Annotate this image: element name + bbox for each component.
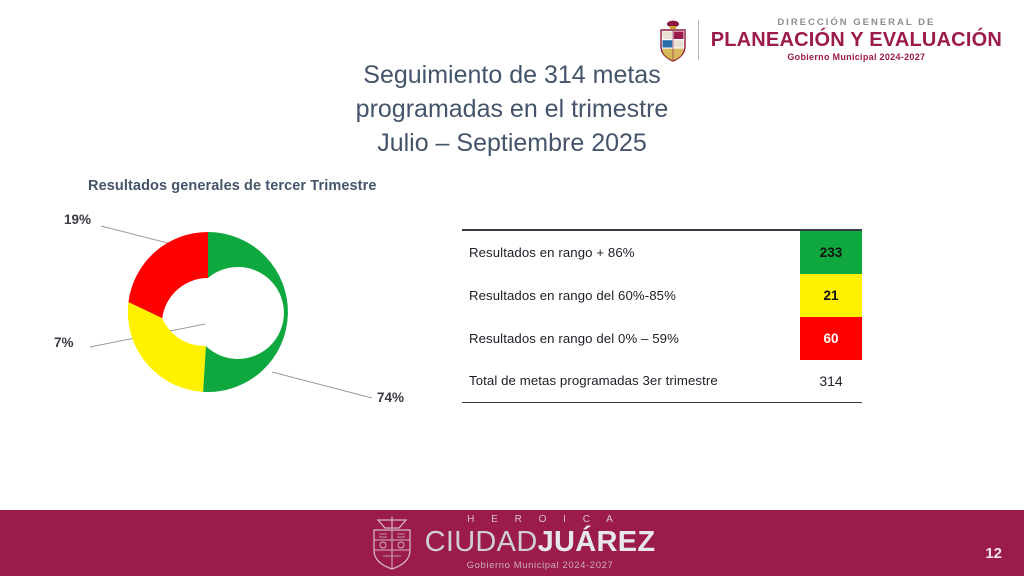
page-number: 12: [985, 545, 1002, 562]
title-line-3: Julio – Septiembre 2025: [0, 126, 1024, 160]
table-bottom-rule: [462, 402, 862, 404]
footer-city: CIUDADJUÁREZ: [425, 528, 656, 557]
table-row-value: 233: [800, 231, 862, 274]
footer-heroica: H E R O I C A: [460, 515, 620, 525]
table-row-label: Resultados en rango + 86%: [462, 231, 800, 274]
chart-heading: Resultados generales de tercer Trimestre: [88, 178, 377, 194]
footer-gobierno: Gobierno Municipal 2024-2027: [467, 561, 614, 571]
donut-slice-red: [128, 232, 208, 318]
table-row-label: Resultados en rango del 60%-85%: [462, 274, 800, 317]
page-title: Seguimiento de 314 metas programadas en …: [0, 58, 1024, 160]
table-row: Resultados en rango + 86% 233: [462, 231, 862, 274]
donut-slice-yellow: [128, 302, 206, 392]
title-line-1: Seguimiento de 314 metas: [0, 58, 1024, 92]
donut-slice-green: [203, 232, 288, 392]
table-total-label: Total de metas programadas 3er trimestre: [462, 360, 800, 402]
table-total-row: Total de metas programadas 3er trimestre…: [462, 360, 862, 402]
footer-logo-text: H E R O I C A CIUDADJUÁREZ Gobierno Muni…: [425, 515, 656, 571]
header-line-2: PLANEACIÓN Y EVALUACIÓN: [711, 30, 1002, 50]
footer-city-light: CIUDAD: [425, 526, 538, 558]
table-body: Resultados en rango + 86% 233 Resultados…: [462, 231, 862, 402]
coat-of-arms-icon: [656, 18, 690, 62]
header-logo-text: DIRECCIÓN GENERAL DE PLANEACIÓN Y EVALUA…: [711, 18, 1002, 63]
donut-label-green: 74%: [377, 390, 404, 405]
header-line-1: DIRECCIÓN GENERAL DE: [777, 18, 935, 28]
table-row-value: 21: [800, 274, 862, 317]
header-divider: [698, 20, 699, 60]
footer-logo: H E R O I C A CIUDADJUÁREZ Gobierno Muni…: [0, 510, 1024, 576]
footer-bar: H E R O I C A CIUDADJUÁREZ Gobierno Muni…: [0, 510, 1024, 576]
donut-label-yellow: 7%: [54, 335, 74, 350]
donut-label-red: 19%: [64, 212, 91, 227]
table-total-value: 314: [800, 360, 862, 402]
table-row: Resultados en rango del 0% – 59% 60: [462, 317, 862, 360]
donut-slices: [128, 232, 288, 392]
coat-of-arms-icon: [369, 516, 415, 570]
table-row: Resultados en rango del 60%-85% 21: [462, 274, 862, 317]
table-row-label: Resultados en rango del 0% – 59%: [462, 317, 800, 360]
title-line-2: programadas en el trimestre: [0, 92, 1024, 126]
table-row-value: 60: [800, 317, 862, 360]
donut-chart: 19% 7% 74%: [38, 200, 458, 430]
footer-city-bold: JUÁREZ: [538, 526, 656, 558]
results-table: Resultados en rango + 86% 233 Resultados…: [462, 229, 862, 403]
